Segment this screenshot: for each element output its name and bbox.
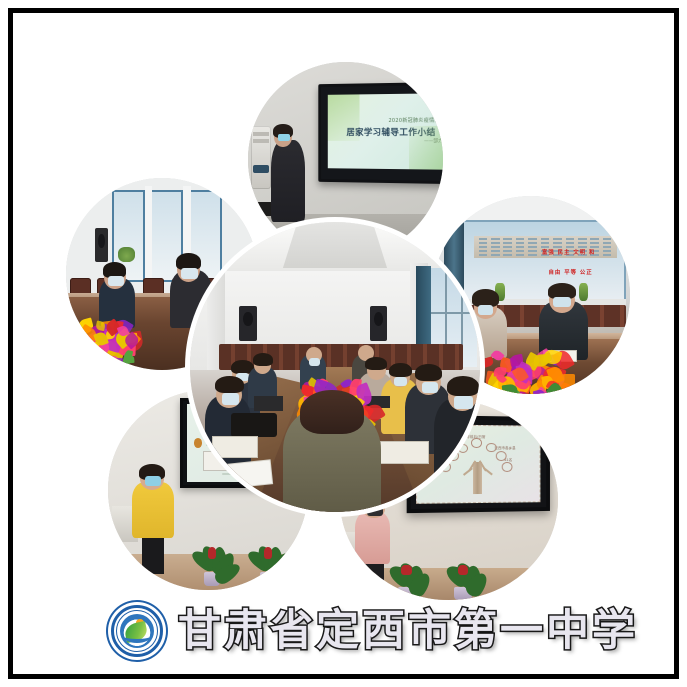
building-window xyxy=(516,238,525,240)
presenter-body xyxy=(271,140,304,222)
building-window xyxy=(528,242,537,244)
paper-sheet xyxy=(218,460,272,489)
building-window xyxy=(541,238,550,240)
building-window xyxy=(578,242,587,244)
building-window xyxy=(590,238,599,240)
presenter-legs xyxy=(142,534,164,574)
building-window xyxy=(491,246,500,248)
attendee-hair xyxy=(365,357,387,370)
projection-screen: 2020新冠肺炎疫情期间 居家学习辅导工作小结 ——郜力 xyxy=(319,82,443,184)
ac-panel xyxy=(253,165,269,173)
attendee-hair xyxy=(389,363,412,378)
logo-swoosh-icon xyxy=(123,629,151,643)
slogan-banner-line2: 自由 平等 公正 xyxy=(527,265,614,278)
face-mask-icon xyxy=(222,393,239,405)
attendee-body xyxy=(434,399,480,486)
building-window xyxy=(603,242,612,244)
open-book xyxy=(381,442,427,462)
plant-bloom xyxy=(401,565,411,575)
building-window xyxy=(503,238,512,240)
laptop xyxy=(364,396,390,408)
slide-line-2: 居家学习辅导工作小结 xyxy=(338,126,443,138)
tree-node xyxy=(486,443,496,453)
presenter-body xyxy=(132,482,174,538)
building-window xyxy=(566,238,575,240)
window-mullion xyxy=(429,312,477,314)
attendee-hair xyxy=(215,376,244,393)
tree-node xyxy=(495,451,505,460)
speaker-icon xyxy=(95,228,108,263)
potted-plant xyxy=(252,542,284,586)
building-window xyxy=(578,238,587,240)
building-window xyxy=(503,254,512,256)
face-mask-icon xyxy=(553,297,571,307)
school-logo-icon xyxy=(108,602,166,660)
poster-root: 2020新冠肺炎疫情期间 居家学习辅导工作小结 ——郜力 xyxy=(0,0,687,687)
face-mask-icon xyxy=(145,476,161,486)
face-mask-icon xyxy=(394,377,407,386)
building-window xyxy=(503,250,512,252)
building-window xyxy=(553,238,562,240)
building-window xyxy=(553,242,562,244)
handbag xyxy=(231,413,277,436)
photo-collage: 2020新冠肺炎疫情期间 居家学习辅导工作小结 ——郜力 xyxy=(0,0,687,600)
building-window xyxy=(491,238,500,240)
attendee-hair xyxy=(447,376,479,396)
open-book xyxy=(213,437,257,457)
photo-center xyxy=(190,222,480,512)
potted-plant xyxy=(196,542,228,586)
presenter-body xyxy=(355,512,390,564)
school-name-title: 甘肃省定西市第一中学 xyxy=(178,610,638,653)
school-banner: 甘肃省定西市第一中学 xyxy=(0,588,687,674)
speaker-icon xyxy=(239,306,256,341)
pillar xyxy=(145,186,153,286)
ac-vent xyxy=(253,132,269,136)
tree-node xyxy=(501,462,511,471)
attendee-hair xyxy=(253,353,273,366)
slide-surface: 2020新冠肺炎疫情期间 居家学习辅导工作小结 ——郜力 xyxy=(328,94,443,171)
open-book xyxy=(543,350,577,362)
building-window xyxy=(541,242,550,244)
face-mask-icon xyxy=(278,134,290,141)
slide-line-1: 2020新冠肺炎疫情期间 xyxy=(350,117,443,124)
building-window xyxy=(590,242,599,244)
vase-plant xyxy=(579,283,589,301)
building-window xyxy=(491,254,500,256)
slide-line-3: ——郜力 xyxy=(352,138,443,144)
potted-plant xyxy=(118,247,135,262)
face-mask-icon xyxy=(108,276,123,286)
building-window xyxy=(491,250,500,252)
face-mask-icon xyxy=(309,358,321,365)
face-mask-icon xyxy=(454,396,473,409)
building-window xyxy=(603,238,612,240)
foreground-person-hair xyxy=(300,390,364,434)
logo-emblem xyxy=(120,614,154,648)
speaker-icon xyxy=(370,306,387,341)
plant-bloom xyxy=(264,547,273,558)
ac-vent xyxy=(253,139,269,143)
laptop xyxy=(254,396,283,411)
face-mask-icon xyxy=(422,382,438,394)
building-window xyxy=(516,242,525,244)
plant-bloom xyxy=(208,547,217,558)
attendee-hair xyxy=(415,364,443,381)
plant-bloom xyxy=(458,565,468,575)
building-window xyxy=(528,238,537,240)
building-window xyxy=(503,242,512,244)
tree-right-label-1: 定西市各乡县 xyxy=(494,446,515,451)
building-window xyxy=(491,242,500,244)
ceiling-beam xyxy=(283,222,387,268)
slogan-banner-line1: 富强 民主 文明 和 xyxy=(519,246,618,259)
scene-conference-room-wide xyxy=(190,222,480,512)
building-window xyxy=(503,246,512,248)
building-window xyxy=(566,242,575,244)
